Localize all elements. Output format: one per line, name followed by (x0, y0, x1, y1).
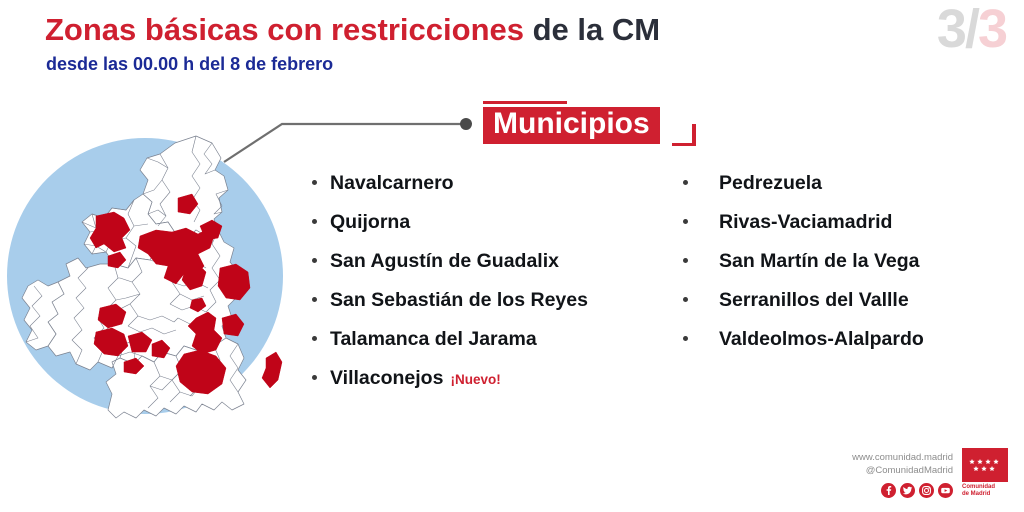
logo-caption-line1: Comunidad (962, 484, 1008, 491)
bullet-icon (683, 258, 688, 263)
bullet-icon (312, 336, 317, 341)
list-item: Talamanca del Jarama (312, 328, 595, 367)
title-highlight: Zonas básicas con restricciones (45, 12, 524, 47)
municipality-name: Rivas-Vaciamadrid (719, 211, 892, 234)
municipality-list-left: Navalcarnero Quijorna San Agustín de Gua… (312, 172, 595, 406)
footer: www.comunidad.madrid @ComunidadMadrid (852, 448, 1008, 498)
page-indicator: 3/3 (937, 2, 1006, 56)
list-item: Navalcarnero (312, 172, 595, 211)
bullet-icon (683, 336, 688, 341)
footer-contact: www.comunidad.madrid @ComunidadMadrid (852, 452, 953, 498)
leader-line-dot (460, 118, 472, 130)
municipality-name: Valdeolmos-Alalpardo (719, 328, 924, 351)
page-title: Zonas básicas con restricciones de la CM (45, 14, 660, 47)
page-separator: / (965, 0, 978, 59)
logo-stars-box (962, 448, 1008, 482)
logo-caption: Comunidad de Madrid (962, 484, 1008, 498)
list-item: Quijorna (312, 211, 595, 250)
list-item: Pedrezuela (683, 172, 924, 211)
seven-stars-icon (969, 457, 1001, 473)
municipality-name: San Agustín de Guadalix (330, 250, 559, 273)
municipality-name: Serranillos del Vallle (719, 289, 909, 312)
bullet-icon (683, 297, 688, 302)
comunidad-de-madrid-logo: Comunidad de Madrid (962, 448, 1008, 498)
municipality-name: Quijorna (330, 211, 410, 234)
page-current: 3 (937, 0, 965, 59)
instagram-icon[interactable] (919, 483, 934, 498)
list-item: San Sebastián de los Reyes (312, 289, 595, 328)
bullet-icon (683, 180, 688, 185)
page-subtitle: desde las 00.00 h del 8 de febrero (46, 54, 333, 75)
footer-handle[interactable]: @ComunidadMadrid (852, 465, 953, 478)
banner-accent-top (483, 101, 567, 104)
bullet-icon (312, 375, 317, 380)
infographic-root: 3/3 Zonas básicas con restricciones de l… (0, 0, 1024, 512)
municipios-banner: Municipios (483, 107, 660, 144)
bullet-icon (312, 219, 317, 224)
municipality-name: San Martín de la Vega (719, 250, 919, 273)
social-links (852, 483, 953, 498)
list-item: Rivas-Vaciamadrid (683, 211, 924, 250)
list-item: San Martín de la Vega (683, 250, 924, 289)
new-badge: ¡Nuevo! (450, 372, 500, 387)
bullet-icon (312, 180, 317, 185)
municipality-name: Navalcarnero (330, 172, 454, 195)
list-item: Villaconejos ¡Nuevo! (312, 367, 595, 406)
twitter-icon[interactable] (900, 483, 915, 498)
list-item: Serranillos del Vallle (683, 289, 924, 328)
municipality-list-right: Pedrezuela Rivas-Vaciamadrid San Martín … (683, 172, 924, 367)
youtube-icon[interactable] (938, 483, 953, 498)
page-total: 3 (978, 0, 1006, 59)
leader-line (210, 100, 490, 170)
municipality-name: Villaconejos (330, 367, 443, 390)
bullet-icon (312, 258, 317, 263)
title-suffix: de la CM (524, 12, 660, 47)
list-item: San Agustín de Guadalix (312, 250, 595, 289)
footer-website[interactable]: www.comunidad.madrid (852, 452, 953, 465)
municipality-name: San Sebastián de los Reyes (330, 289, 588, 312)
list-item: Valdeolmos-Alalpardo (683, 328, 924, 367)
bullet-icon (683, 219, 688, 224)
facebook-icon[interactable] (881, 483, 896, 498)
bullet-icon (312, 297, 317, 302)
banner-accent-bottom (672, 143, 696, 146)
municipality-name: Pedrezuela (719, 172, 822, 195)
municipality-name: Talamanca del Jarama (330, 328, 537, 351)
logo-caption-line2: de Madrid (962, 491, 1008, 498)
leader-line-path (224, 124, 468, 162)
